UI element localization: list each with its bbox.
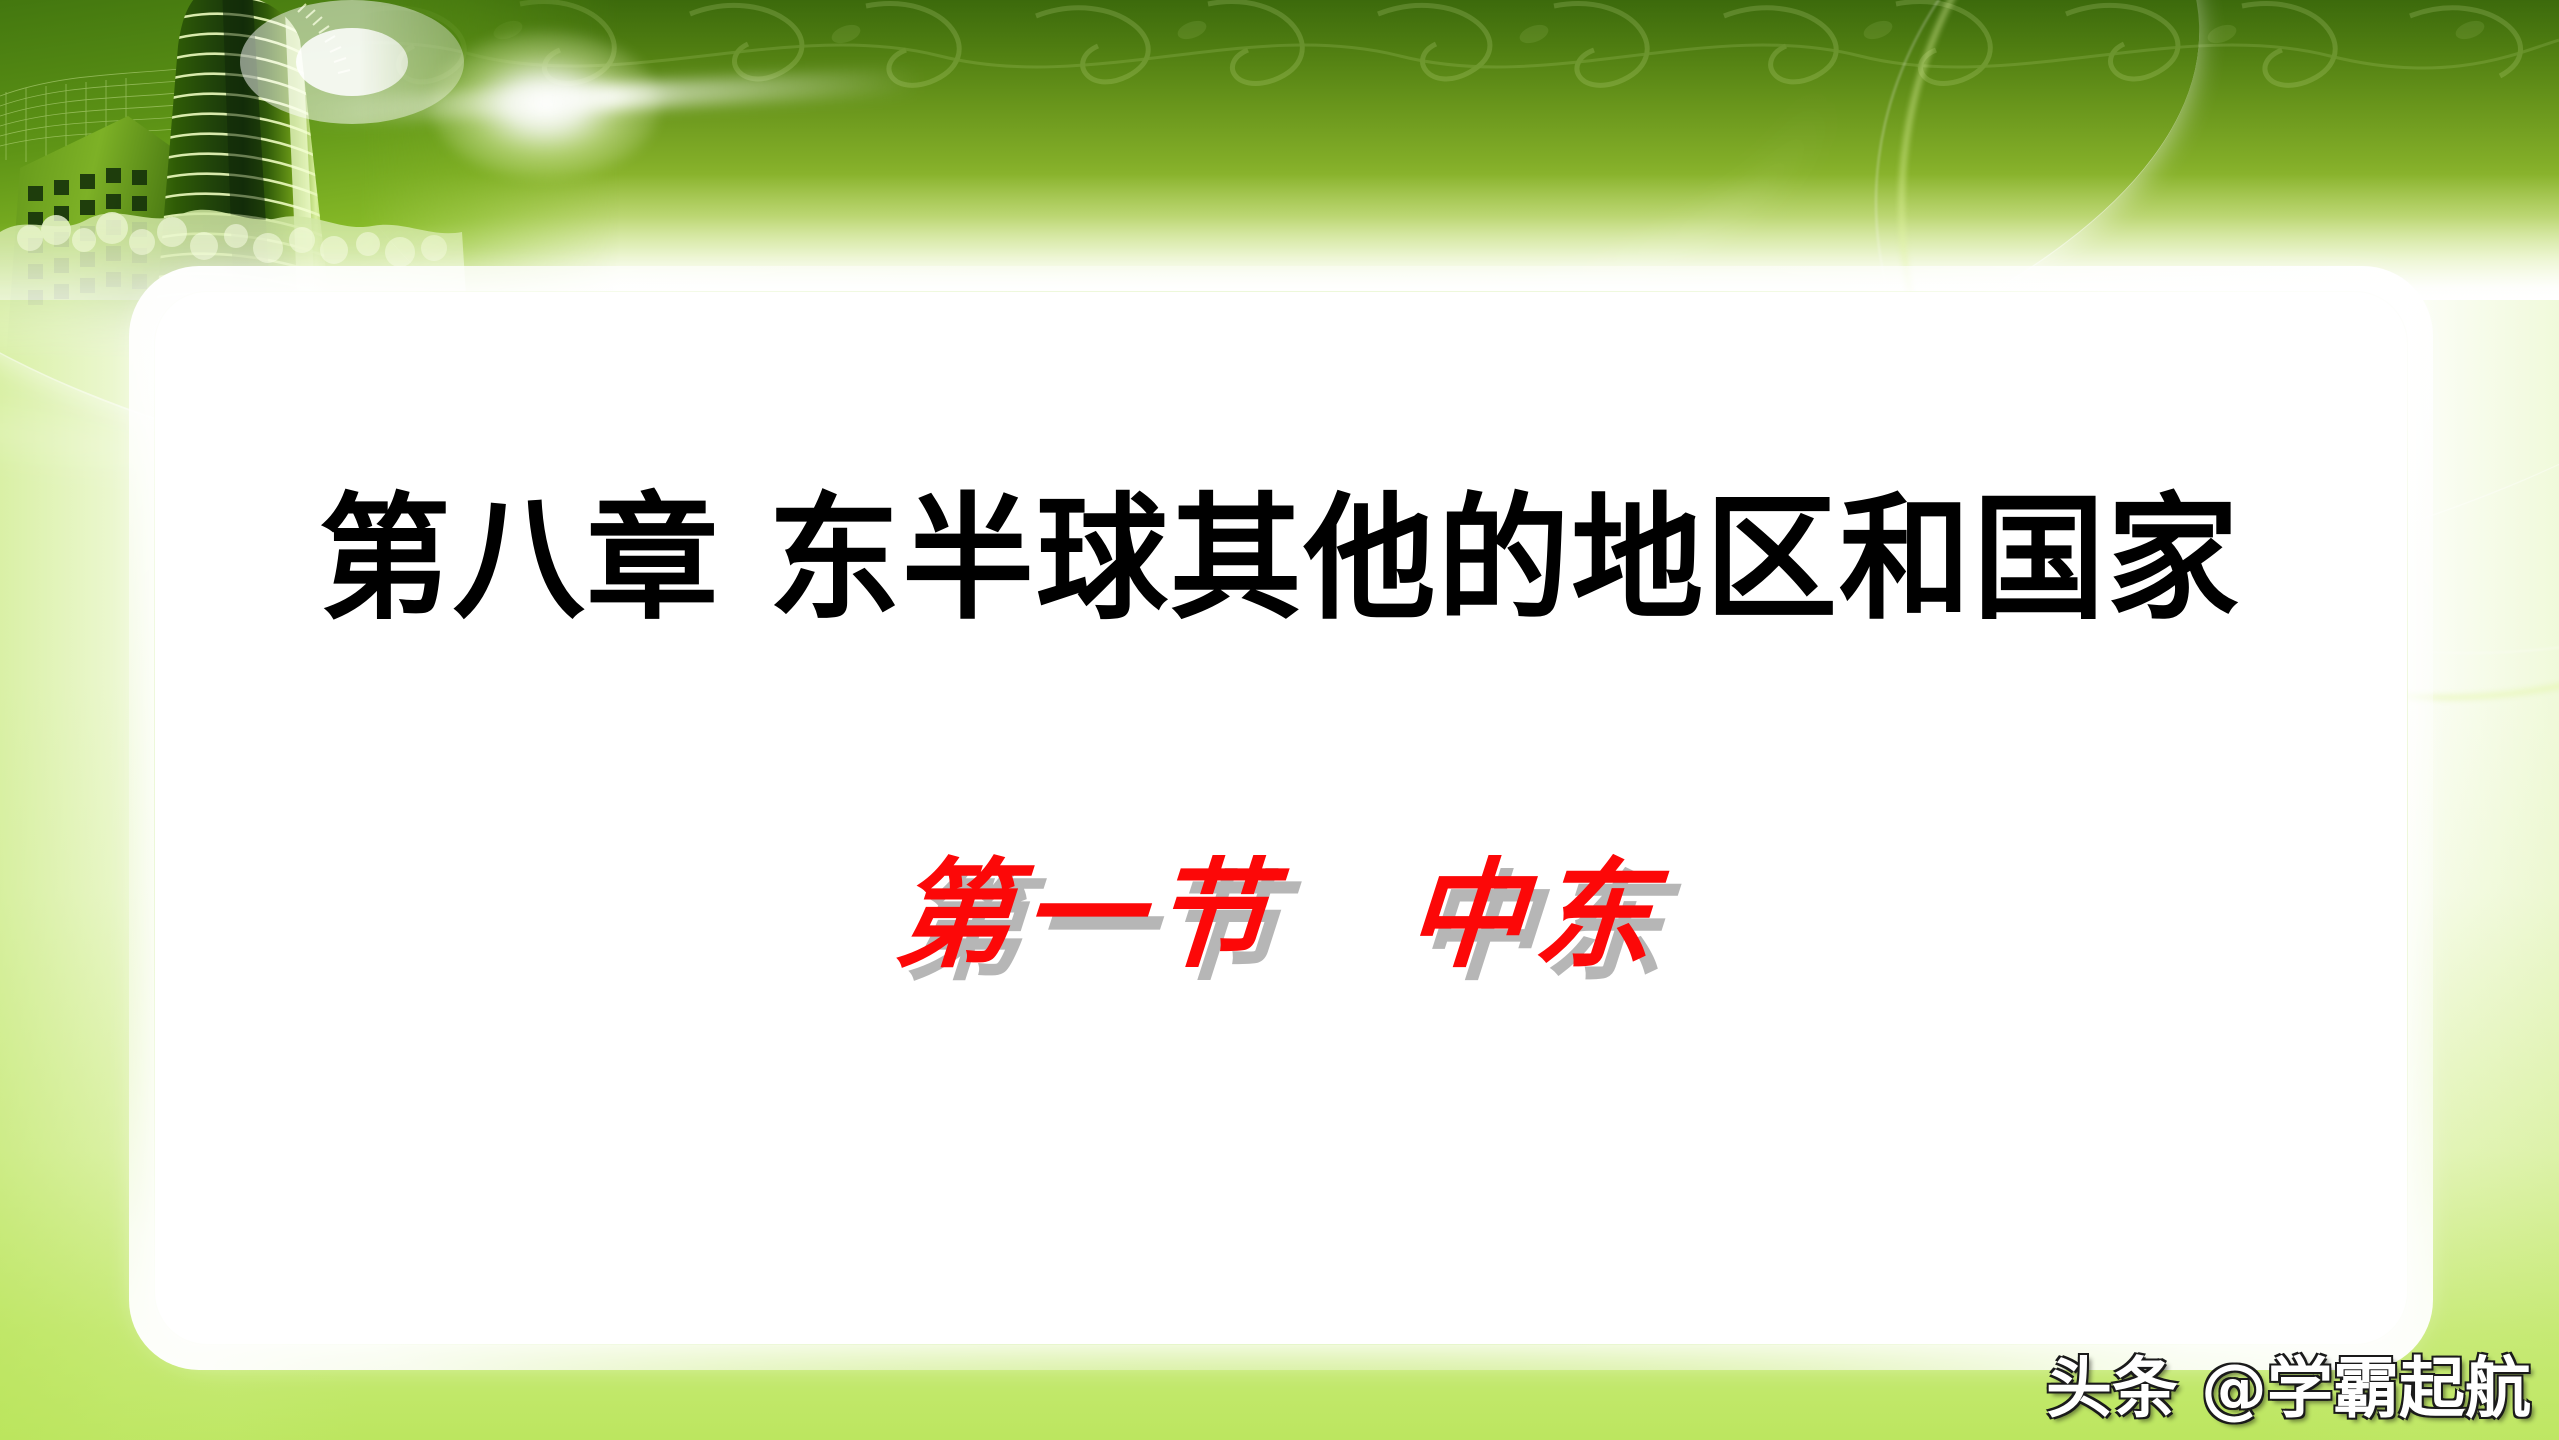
watermark-label: 头条 @学霸起航: [2046, 1356, 2531, 1422]
slide-canvas: 第八章 东半球其他的地区和国家 第一节 中东 头条 @学霸起航: [0, 0, 2559, 1440]
chapter-title: 第八章 东半球其他的地区和国家: [319, 487, 2241, 634]
chapter-title-container: 第八章 东半球其他的地区和国家: [0, 396, 2559, 725]
section-title: 第一节 中东: [891, 850, 1668, 980]
section-title-container: 第一节 中东: [0, 752, 2559, 1078]
